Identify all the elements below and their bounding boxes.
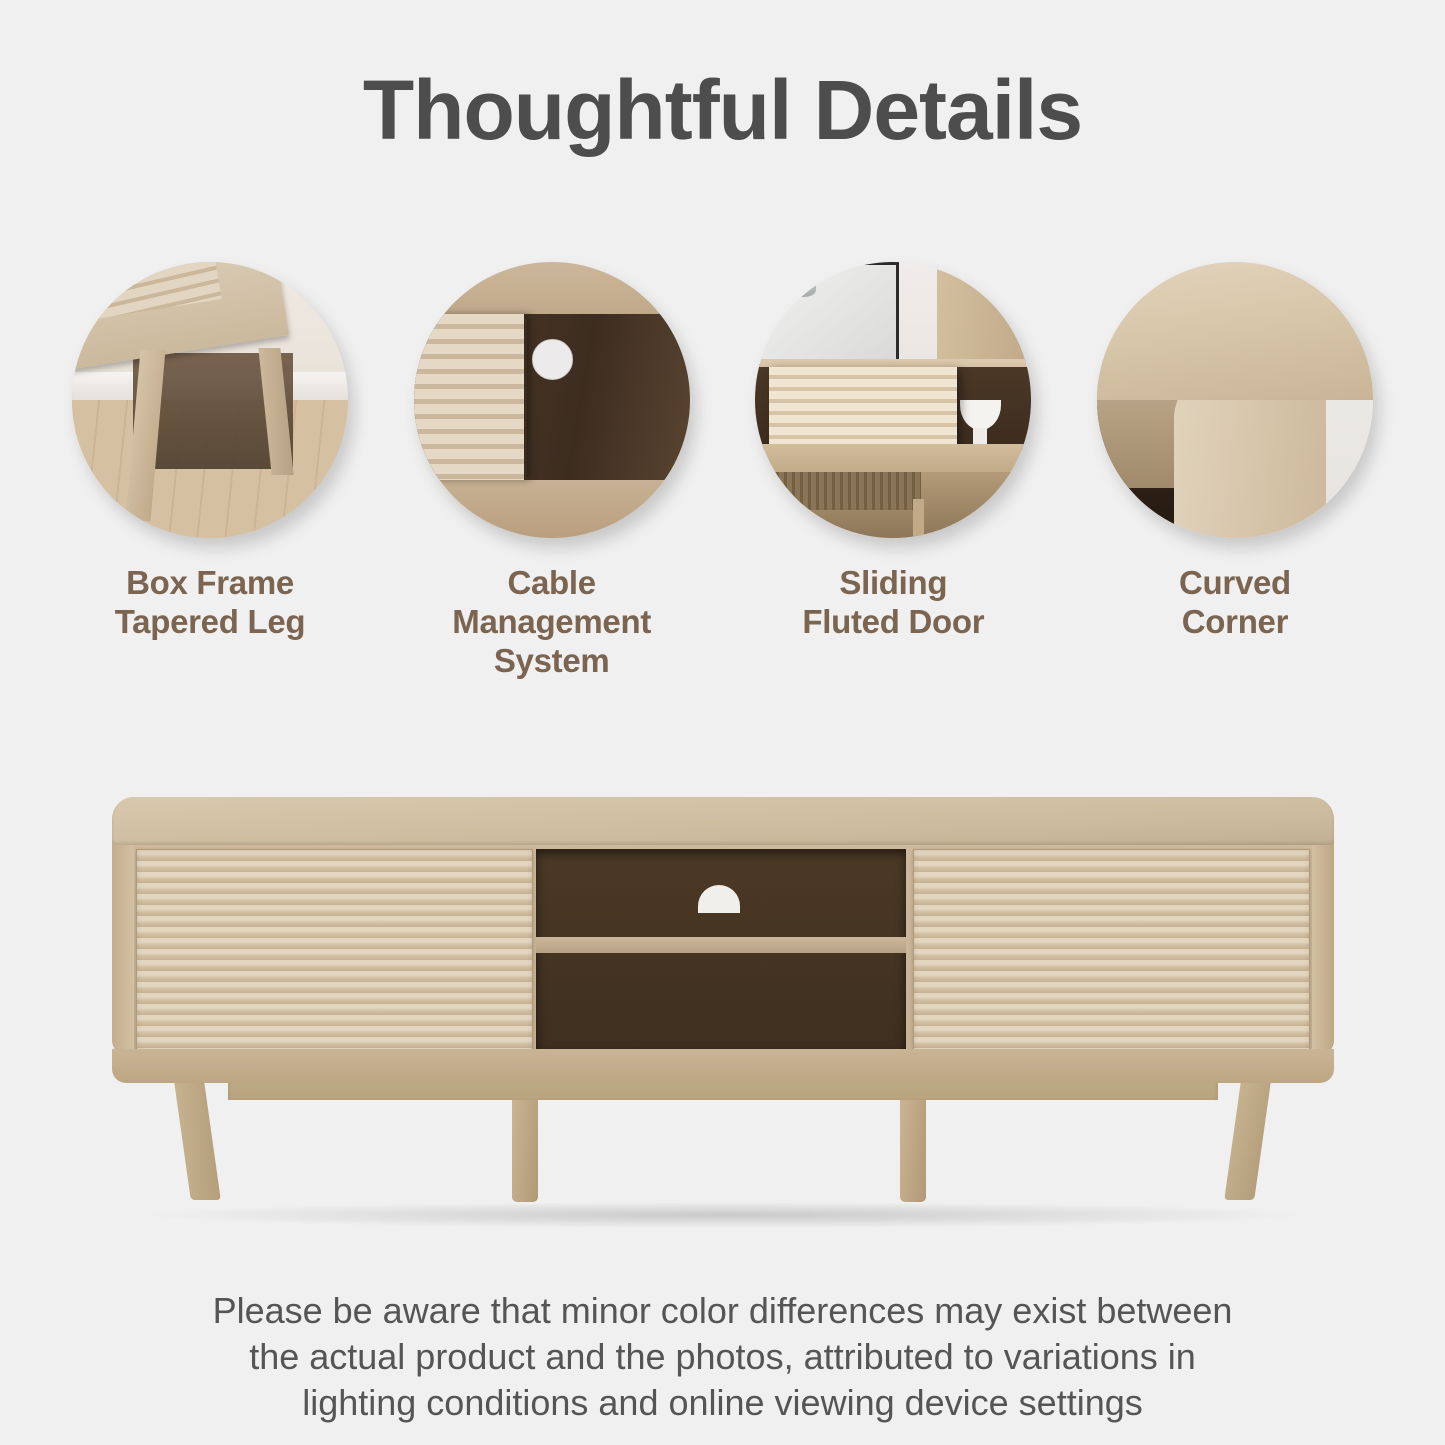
feature-label-line: Curved [1179,564,1291,603]
box-frame-tapered-leg-photo [72,262,348,538]
feature-item-sliding-fluted-door: Sliding Fluted Door [743,262,1043,642]
feature-label: Cable Management System [452,564,651,681]
disclaimer-line: Please be aware that minor color differe… [72,1288,1373,1334]
feature-label-line: Box Frame [115,564,305,603]
sliding-fluted-door-left [136,849,533,1051]
page-title: Thoughtful Details [0,68,1445,152]
feature-label-line: Fluted Door [802,603,984,642]
sliding-fluted-door-photo [755,262,1031,538]
feature-label: Sliding Fluted Door [802,564,984,642]
disclaimer-text: Please be aware that minor color differe… [72,1288,1373,1426]
infographic-page: Thoughtful Details Box Frame Tapered Leg [0,0,1445,1445]
feature-label-line: Tapered Leg [115,603,305,642]
cabinet-top-surface [112,797,1334,845]
sliding-fluted-door-right [913,849,1310,1051]
feature-item-cable-management-system: Cable Management System [402,262,702,681]
cabinet-body [112,797,1334,1082]
center-shelf [536,937,906,953]
cable-grommet-hole [532,339,573,380]
feature-item-curved-corner: Curved Corner [1085,262,1385,642]
feature-label-line: Cable [452,564,651,603]
feature-label-line: Management [452,603,651,642]
feature-list: Box Frame Tapered Leg Cable Management S… [60,262,1385,692]
feature-label-line: Sliding [802,564,984,603]
floor-shadow [150,1202,1300,1228]
disclaimer-line: the actual product and the photos, attri… [72,1334,1373,1380]
feature-label: Curved Corner [1179,564,1291,642]
feature-label-line: System [452,642,651,681]
curved-corner-photo [1097,262,1373,538]
feature-label: Box Frame Tapered Leg [115,564,305,642]
tv-stand-product-photo [0,750,1445,1250]
feature-item-box-frame-tapered-leg: Box Frame Tapered Leg [60,262,360,642]
cable-management-system-photo [414,262,690,538]
disclaimer-line: lighting conditions and online viewing d… [72,1380,1373,1426]
feature-label-line: Corner [1179,603,1291,642]
